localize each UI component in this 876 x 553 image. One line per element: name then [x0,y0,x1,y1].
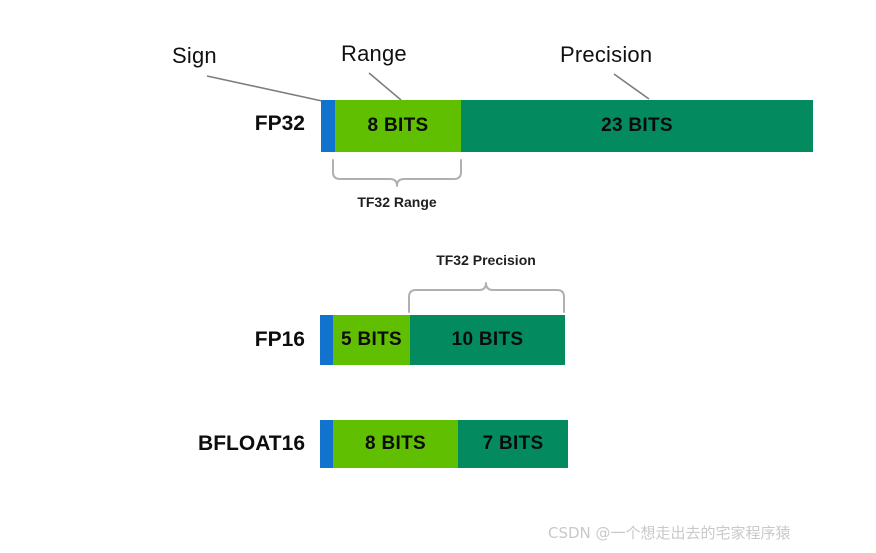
fp32-segment-sign [321,100,335,152]
fp16-precision-text: 10 BITS [452,329,524,351]
fp32-segment-range: 8 BITS [335,100,461,152]
fp32-precision-text: 23 BITS [601,115,673,137]
bfloat16-range-text: 8 BITS [365,433,426,455]
tf32-precision-bracket [409,283,564,312]
bar-fp32: 8 BITS 23 BITS [321,100,813,152]
row-label-fp16: FP16 [175,328,305,352]
row-label-bfloat16: BFLOAT16 [150,432,305,456]
watermark-text: CSDN @一个想走出去的宅家程序猿 [548,522,791,543]
fp32-range-text: 8 BITS [368,115,429,137]
range-leader-line [369,73,401,100]
fp16-segment-range: 5 BITS [333,315,410,365]
bracket-label-tf32-precision: TF32 Precision [411,252,561,268]
bar-bfloat16: 8 BITS 7 BITS [320,420,568,468]
label-precision: Precision [560,42,652,68]
bracket-label-tf32-range: TF32 Range [322,194,472,210]
fp16-range-text: 5 BITS [341,329,402,351]
diagram-canvas: Sign Range Precision FP32 8 BITS 23 BITS… [0,0,876,553]
annotation-overlay [0,0,876,553]
bfloat16-precision-text: 7 BITS [483,433,544,455]
bfloat16-segment-sign [320,420,333,468]
fp16-segment-sign [320,315,333,365]
tf32-range-bracket [333,160,461,186]
label-sign: Sign [172,43,217,69]
sign-leader-line [207,76,322,101]
label-range: Range [341,41,407,67]
fp16-segment-precision: 10 BITS [410,315,565,365]
bar-fp16: 5 BITS 10 BITS [320,315,565,365]
precision-leader-line [614,74,649,99]
row-label-fp32: FP32 [170,112,305,136]
fp32-segment-precision: 23 BITS [461,100,813,152]
bfloat16-segment-precision: 7 BITS [458,420,568,468]
bfloat16-segment-range: 8 BITS [333,420,458,468]
